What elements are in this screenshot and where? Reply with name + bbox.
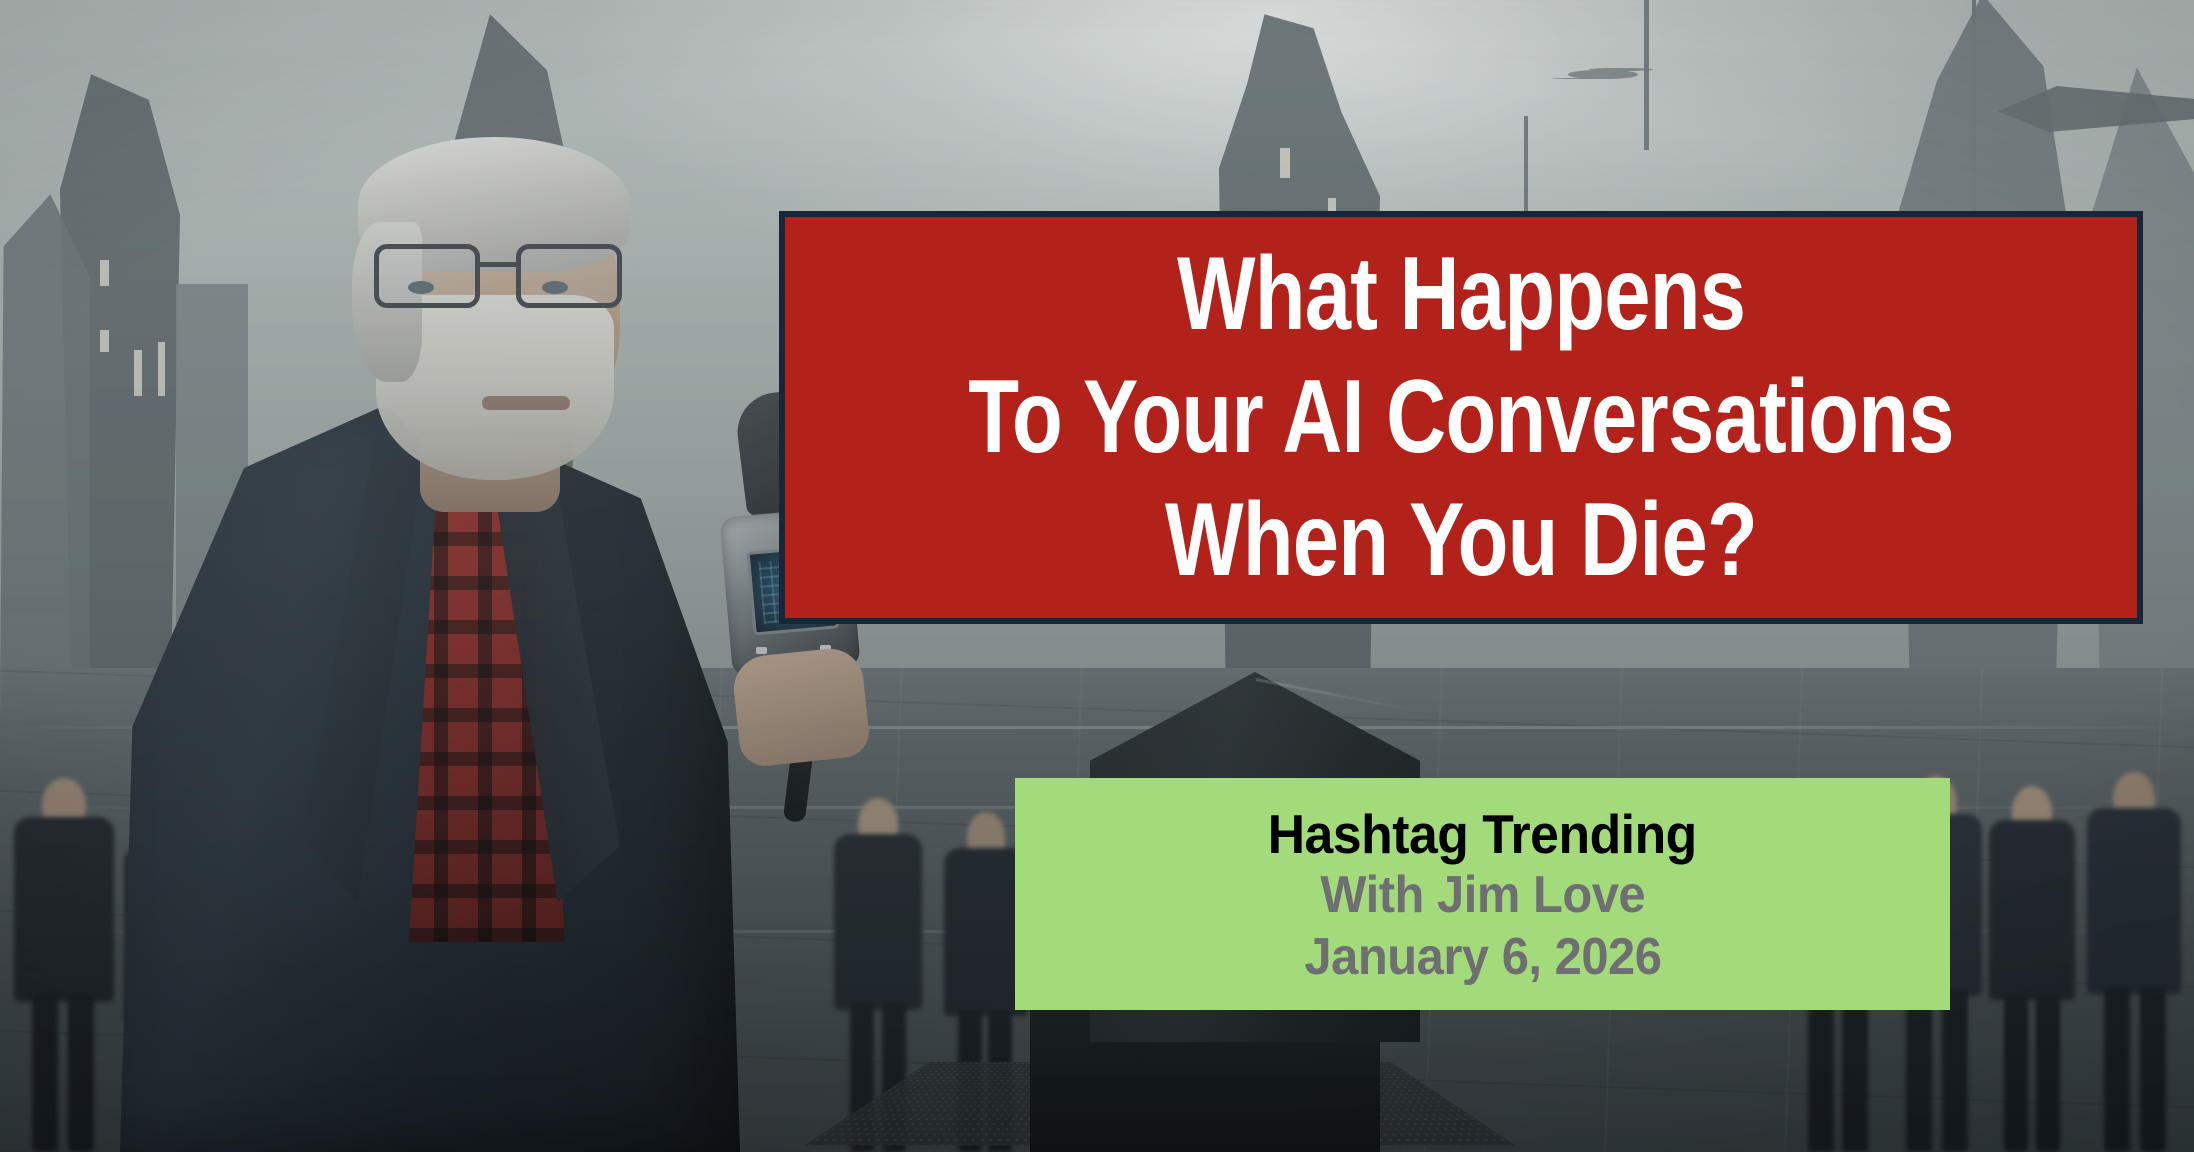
- eyeglasses-lens-left: [374, 244, 480, 308]
- reporter-mouth: [482, 396, 570, 410]
- skyline-tower: [0, 194, 90, 714]
- microphone-led-left: [756, 647, 767, 654]
- show-title: Hashtag Trending: [1268, 804, 1697, 866]
- title-card: What Happens To Your AI Conversations Wh…: [779, 211, 2143, 624]
- mourner-body: [1989, 820, 2075, 1000]
- title-line-1: What Happens: [1177, 233, 1745, 356]
- reporter-hand: [731, 646, 872, 769]
- reporter-figure: [90, 0, 790, 1152]
- title-line-3: When You Die?: [1165, 479, 1757, 602]
- mourner-figure: [1986, 780, 2078, 1152]
- show-info-card: Hashtag Trending With Jim Love January 6…: [1015, 778, 1950, 1010]
- mourner-leg: [2004, 994, 2028, 1152]
- mourner-leg: [1808, 996, 1834, 1152]
- eyeglasses-icon: [374, 240, 622, 314]
- show-date: January 6, 2026: [1304, 927, 1661, 988]
- mourner-leg: [2036, 994, 2060, 1152]
- tower-spire: [1644, 0, 1649, 150]
- mourner-figure: [2084, 766, 2184, 1152]
- mourner-leg: [1842, 996, 1868, 1152]
- tower-window: [1280, 148, 1290, 178]
- show-host: With Jim Love: [1320, 865, 1645, 926]
- mourner-leg: [1942, 990, 1968, 1152]
- mourner-leg: [1906, 990, 1932, 1152]
- mourner-leg: [2104, 988, 2130, 1152]
- mourner-leg: [2140, 988, 2166, 1152]
- eyeglasses-bridge: [480, 262, 520, 267]
- eyeglasses-lens-right: [516, 244, 622, 308]
- mourner-body: [2087, 808, 2181, 994]
- video-thumbnail: What Happens To Your AI Conversations Wh…: [0, 0, 2194, 1152]
- mourner-body: [834, 834, 922, 1010]
- flying-vehicle-icon: [1568, 70, 1638, 79]
- title-line-2: To Your AI Conversations: [968, 356, 1954, 479]
- mourner-leg: [32, 994, 58, 1152]
